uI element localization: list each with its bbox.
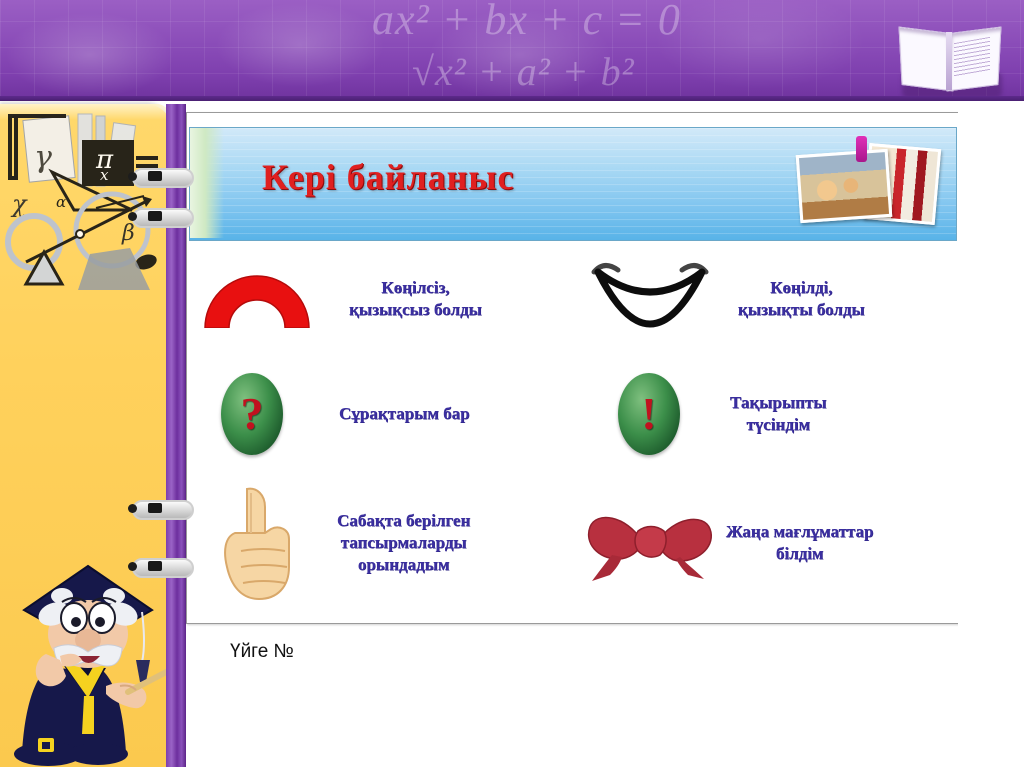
top-banner: ax² + bx + c = 0 √x² + a² + b² [0, 0, 1024, 100]
feedback-item[interactable]: ! Тақырыпты түсіндім [584, 355, 955, 473]
feedback-label: Көңілсіз, қызықсыз болды [349, 277, 482, 321]
feedback-label-line1: Көңілді, [738, 277, 865, 299]
feedback-label: Сабақта берілген тапсырмаларды орындадым [337, 510, 470, 576]
feedback-label: Жаңа мағлұматтар білдім [726, 521, 874, 565]
sad-mouth-arc-icon [199, 270, 315, 328]
spiral-ring [132, 500, 190, 516]
svg-text:χ: χ [10, 190, 28, 218]
feedback-items-grid: Көңілсіз, қызықсыз болды Көңілді [189, 243, 955, 617]
slide-stage: ax² + bx + c = 0 √x² + a² + b² π [0, 0, 1024, 767]
feedback-item[interactable]: Көңілді, қызықты болды [584, 243, 955, 355]
svg-text:β: β [121, 221, 135, 246]
open-book-icon [898, 24, 1002, 100]
exclamation-glyph: ! [641, 391, 656, 437]
banner-bottom-edge [0, 96, 1024, 101]
feedback-label-line2: білдім [726, 543, 874, 565]
svg-text:x: x [100, 166, 109, 184]
feedback-item[interactable]: Жаңа мағлұматтар білдім [584, 473, 955, 613]
feedback-label: Тақырыпты түсіндім [730, 392, 827, 436]
feedback-label-line3: орындадым [337, 554, 470, 576]
feedback-label-line1: Жаңа мағлұматтар [726, 521, 874, 543]
feedback-label-line2: түсіндім [730, 414, 827, 436]
spiral-ring [132, 208, 190, 224]
feedback-label-line2: тапсырмаларды [337, 532, 470, 554]
feedback-label-line1: Сұрақтарым бар [339, 403, 470, 425]
feedback-label: Сұрақтарым бар [339, 403, 470, 425]
professor-cartoon-icon [2, 548, 174, 767]
green-oval-question-icon: ? [221, 373, 283, 455]
green-oval-exclamation-icon: ! [618, 373, 680, 455]
svg-text:α: α [56, 193, 66, 211]
red-bow-icon [584, 501, 716, 585]
question-glyph: ? [241, 391, 264, 437]
spiral-ring [132, 168, 190, 184]
spiral-ring [132, 558, 190, 574]
photo-stack-icon [792, 138, 942, 230]
feedback-label-line2: қызықты болды [738, 299, 865, 321]
header-green-edge [190, 128, 224, 238]
smile-mouth-icon [584, 256, 716, 342]
slide-content-panel: Кері байланыс Көңілсіз, [186, 112, 960, 624]
feedback-label-line1: Тақырыпты [730, 392, 827, 414]
right-margin [958, 104, 1024, 767]
feedback-label-line2: қызықсыз болды [349, 299, 482, 321]
feedback-label: Көңілді, қызықты болды [738, 277, 865, 321]
feedback-item[interactable]: ? Сұрақтарым бар [189, 355, 584, 473]
feedback-item[interactable]: Көңілсіз, қызықсыз болды [189, 243, 584, 355]
push-pin-icon [856, 136, 867, 162]
feedback-label-line1: Сабақта берілген [337, 510, 470, 532]
page-title: Кері байланыс [262, 156, 515, 198]
math-symbols-collage: π x γ χ α β [4, 112, 170, 292]
notebook-binding-strip [166, 104, 186, 767]
feedback-label-line1: Көңілсіз, [349, 277, 482, 299]
homework-label: Үйге № [230, 641, 294, 663]
slide-header-band: Кері байланыс [189, 127, 957, 241]
thumbs-up-icon [217, 483, 303, 603]
photo-thumbnail [796, 149, 893, 223]
feedback-item[interactable]: Сабақта берілген тапсырмаларды орындадым [189, 473, 584, 613]
